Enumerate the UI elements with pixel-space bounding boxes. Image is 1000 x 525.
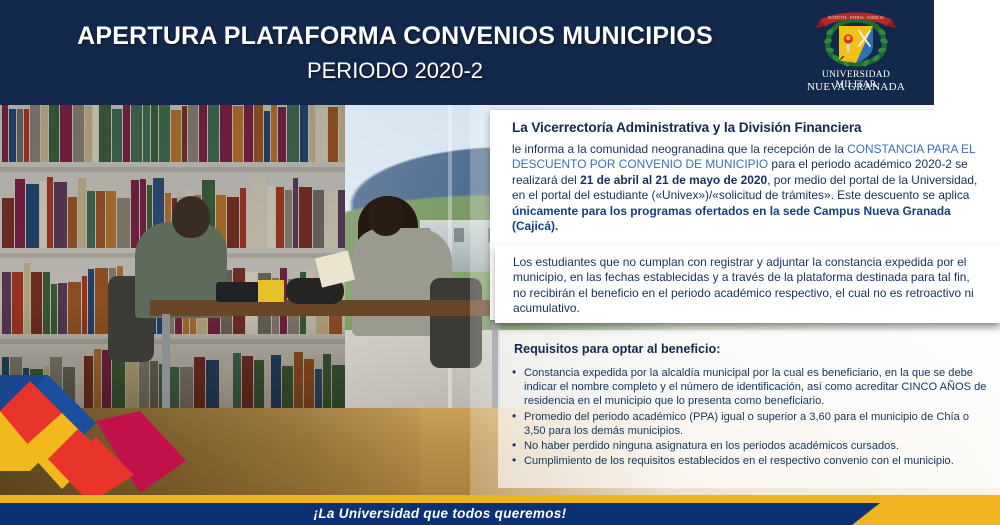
- page-subtitle: PERIODO 2020-2: [0, 58, 790, 84]
- poster-canvas: APERTURA PLATAFORMA CONVENIOS MUNICIPIOS…: [0, 0, 1000, 525]
- university-crest-logo: SCIENTIA · PATRIA · FAMILIA UNIVERSIDAD …: [806, 8, 906, 104]
- corner-geometric-decoration: [0, 375, 200, 500]
- crest-motto-text: SCIENTIA · PATRIA · FAMILIA: [828, 15, 884, 20]
- photo-student-left-head: [172, 196, 210, 238]
- p1-sede-emphasis: únicamente para los programas ofertados …: [512, 204, 951, 233]
- list-item: Promedio del periodo académico (PPA) igu…: [512, 410, 990, 438]
- list-item: No haber perdido ninguna asignatura en l…: [512, 439, 990, 453]
- p1-dates: 21 de abril al 21 de mayo de 2020: [580, 173, 767, 187]
- page-title: APERTURA PLATAFORMA CONVENIOS MUNICIPIOS: [0, 22, 790, 51]
- crest-name-line2: NUEVA GRANADA: [806, 81, 906, 93]
- panel-paragraph-2: Los estudiantes que no cumplan con regis…: [513, 255, 986, 317]
- footer-tagline: ¡La Universidad que todos queremos!: [0, 503, 880, 525]
- p1-segment-a: le informa a la comunidad neogranadina q…: [512, 142, 847, 156]
- photo-student-right-head: [368, 196, 404, 236]
- photo-notebook: [258, 280, 284, 302]
- panel-heading: La Vicerrectoría Administrativa y la Div…: [512, 120, 986, 135]
- requirements-heading: Requisitos para optar al beneficio:: [514, 342, 990, 356]
- requirements-section: Requisitos para optar al beneficio: Cons…: [498, 330, 1000, 488]
- panel-paragraph-1: le informa a la comunidad neogranadina q…: [512, 142, 986, 234]
- list-item: Constancia expedida por la alcaldía muni…: [512, 366, 990, 409]
- requirements-list: Constancia expedida por la alcaldía muni…: [512, 366, 990, 468]
- list-item: Cumplimiento de los requisitos estableci…: [512, 454, 990, 468]
- crest-icon: SCIENTIA · PATRIA · FAMILIA: [806, 8, 906, 68]
- announcement-panel-secondary: Los estudiantes que no cumplan con regis…: [495, 245, 1000, 323]
- poster-header: APERTURA PLATAFORMA CONVENIOS MUNICIPIOS…: [0, 0, 934, 105]
- header-right-margin: [934, 0, 1000, 110]
